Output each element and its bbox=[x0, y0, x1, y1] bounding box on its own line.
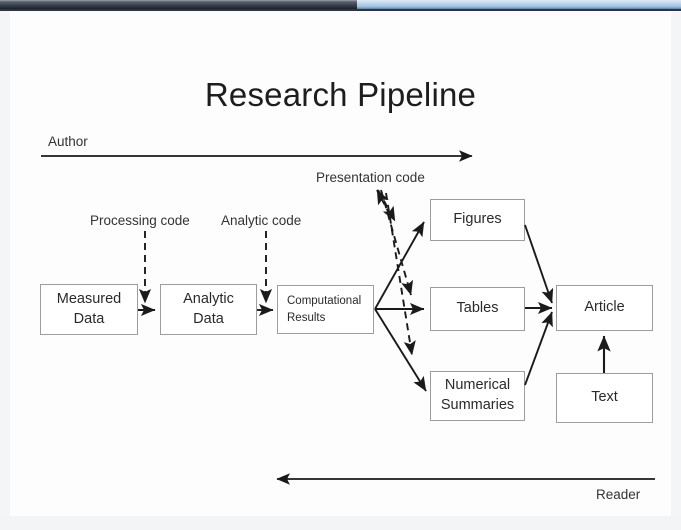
node-computational-results-label: ComputationalResults bbox=[287, 293, 361, 326]
node-tables[interactable]: Tables bbox=[430, 287, 525, 331]
node-numerical-summaries[interactable]: NumericalSummaries bbox=[430, 371, 525, 421]
page-title: Research Pipeline bbox=[0, 76, 681, 114]
processing-code-label: Processing code bbox=[90, 213, 190, 228]
node-tables-label: Tables bbox=[457, 299, 499, 319]
node-numerical-summaries-label: NumericalSummaries bbox=[441, 376, 514, 415]
node-measured-data-label: MeasuredData bbox=[57, 290, 121, 329]
slide-edge-bottom bbox=[0, 516, 681, 530]
node-article-label: Article bbox=[584, 298, 624, 318]
window-title-bar-right bbox=[357, 0, 681, 9]
node-text[interactable]: Text bbox=[556, 373, 653, 423]
node-analytic-data[interactable]: AnalyticData bbox=[160, 284, 257, 335]
analytic-code-label: Analytic code bbox=[221, 213, 301, 228]
node-text-label: Text bbox=[591, 388, 618, 408]
node-article[interactable]: Article bbox=[556, 285, 653, 331]
reader-flow-label: Reader bbox=[596, 487, 640, 502]
node-measured-data[interactable]: MeasuredData bbox=[40, 284, 138, 335]
author-flow-label: Author bbox=[48, 134, 88, 149]
node-figures-label: Figures bbox=[453, 210, 501, 230]
presentation-code-label: Presentation code bbox=[316, 170, 425, 185]
diagram-canvas: Research Pipeline Author Reader Processi… bbox=[0, 0, 681, 530]
node-figures[interactable]: Figures bbox=[430, 199, 525, 241]
node-analytic-data-label: AnalyticData bbox=[183, 290, 234, 329]
node-computational-results[interactable]: ComputationalResults bbox=[277, 285, 374, 334]
